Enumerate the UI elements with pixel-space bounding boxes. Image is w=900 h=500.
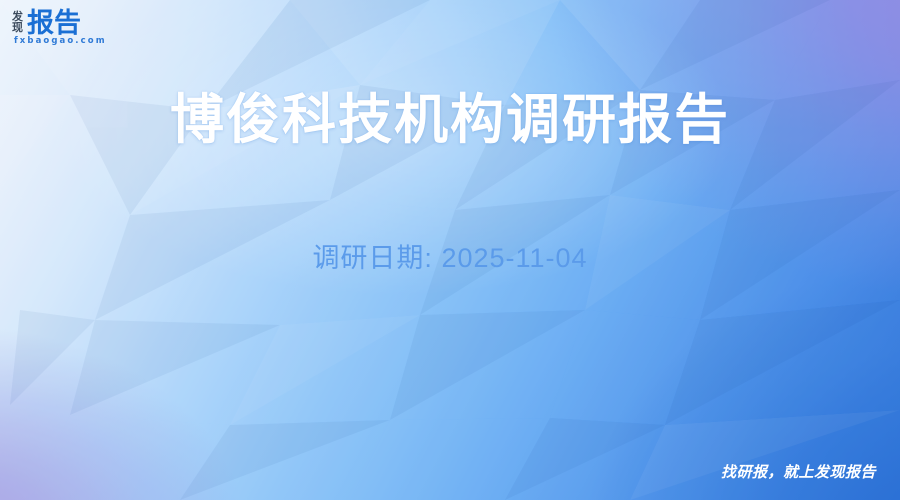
report-cover: 发 现 报告 fxbaogao.com 博俊科技机构调研报告 调研日期: 202… [0,0,900,500]
logo-url: fxbaogao.com [14,36,107,46]
page-title: 博俊科技机构调研报告 [0,89,900,153]
logo-stack-line-2: 现 [12,23,23,34]
footer-slogan: 找研报，就上发现报告 [721,461,876,482]
logo-stacked-characters: 发 现 [12,10,23,34]
logo-mark: 发 现 报告 [12,10,81,37]
site-logo[interactable]: 发 现 报告 [12,10,81,37]
survey-date-subtitle: 调研日期: 2025-11-04 [0,236,900,275]
logo-wordmark: 报告 [27,10,81,37]
